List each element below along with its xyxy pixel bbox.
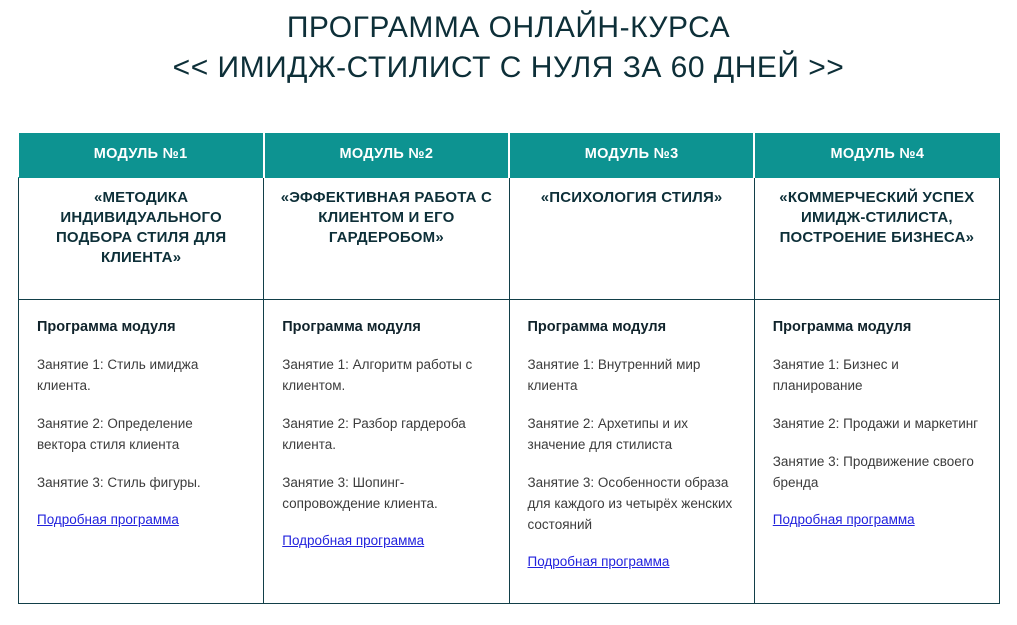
lesson-item: Занятие 2: Продажи и маркетинг bbox=[773, 413, 981, 434]
lesson-item: Занятие 2: Архетипы и их значение для ст… bbox=[528, 413, 736, 455]
page-title-line-2: << ИМИДЖ-СТИЛИСТ С НУЛЯ ЗА 60 ДНЕЙ >> bbox=[0, 48, 1017, 88]
module-title-cell-2: «ЭФФЕКТИВНАЯ РАБОТА С КЛИЕНТОМ И ЕГО ГАР… bbox=[264, 177, 509, 299]
lesson-item: Занятие 1: Стиль имиджа клиента. bbox=[37, 354, 245, 396]
module-title-row: «МЕТОДИКА ИНДИВИДУАЛЬНОГО ПОДБОРА СТИЛЯ … bbox=[19, 177, 1000, 299]
program-heading-4: Программа модуля bbox=[773, 318, 981, 336]
program-heading-1: Программа модуля bbox=[37, 318, 245, 336]
module-title-text-4: «КОММЕРЧЕСКИЙ УСПЕХ ИМИДЖ-СТИЛИСТА, ПОСТ… bbox=[769, 188, 985, 248]
detailed-program-link-4[interactable]: Подробная программа bbox=[773, 510, 915, 530]
detailed-program-link-2[interactable]: Подробная программа bbox=[282, 531, 424, 551]
lesson-item: Занятие 1: Алгоритм работы с клиентом. bbox=[282, 354, 490, 396]
module-header-2: МОДУЛЬ №2 bbox=[264, 133, 509, 177]
lesson-item: Занятие 1: Бизнес и планирование bbox=[773, 354, 981, 396]
module-title-cell-1: «МЕТОДИКА ИНДИВИДУАЛЬНОГО ПОДБОРА СТИЛЯ … bbox=[19, 177, 264, 299]
lesson-item: Занятие 3: Продвижение своего бренда bbox=[773, 451, 981, 493]
page-title: ПРОГРАММА ОНЛАЙН-КУРСА << ИМИДЖ-СТИЛИСТ … bbox=[0, 0, 1017, 88]
module-body-cell-2: Программа модуля Занятие 1: Алгоритм раб… bbox=[264, 299, 509, 603]
module-body-row: Программа модуля Занятие 1: Стиль имиджа… bbox=[19, 299, 1000, 603]
module-title-text-3: «ПСИХОЛОГИЯ СТИЛЯ» bbox=[524, 188, 740, 208]
program-heading-2: Программа модуля bbox=[282, 318, 490, 336]
detailed-program-link-3[interactable]: Подробная программа bbox=[528, 552, 670, 572]
module-header-row: МОДУЛЬ №1 МОДУЛЬ №2 МОДУЛЬ №3 МОДУЛЬ №4 bbox=[19, 133, 1000, 177]
course-program-page: ПРОГРАММА ОНЛАЙН-КУРСА << ИМИДЖ-СТИЛИСТ … bbox=[0, 0, 1017, 625]
module-body-cell-3: Программа модуля Занятие 1: Внутренний м… bbox=[509, 299, 754, 603]
module-title-text-2: «ЭФФЕКТИВНАЯ РАБОТА С КЛИЕНТОМ И ЕГО ГАР… bbox=[278, 188, 494, 248]
lesson-item: Занятие 3: Стиль фигуры. bbox=[37, 472, 245, 493]
page-title-line-1: ПРОГРАММА ОНЛАЙН-КУРСА bbox=[0, 8, 1017, 48]
program-heading-3: Программа модуля bbox=[528, 318, 736, 336]
lesson-item: Занятие 3: Особенности образа для каждог… bbox=[528, 472, 736, 535]
lesson-item: Занятие 2: Определение вектора стиля кли… bbox=[37, 413, 245, 455]
detailed-program-link-1[interactable]: Подробная программа bbox=[37, 510, 179, 530]
module-body-cell-4: Программа модуля Занятие 1: Бизнес и пла… bbox=[754, 299, 999, 603]
module-title-cell-4: «КОММЕРЧЕСКИЙ УСПЕХ ИМИДЖ-СТИЛИСТА, ПОСТ… bbox=[754, 177, 999, 299]
module-header-1: МОДУЛЬ №1 bbox=[19, 133, 264, 177]
program-table: МОДУЛЬ №1 МОДУЛЬ №2 МОДУЛЬ №3 МОДУЛЬ №4 … bbox=[18, 133, 1000, 604]
lesson-item: Занятие 1: Внутренний мир клиента bbox=[528, 354, 736, 396]
lesson-item: Занятие 2: Разбор гардероба клиента. bbox=[282, 413, 490, 455]
module-body-cell-1: Программа модуля Занятие 1: Стиль имиджа… bbox=[19, 299, 264, 603]
module-title-cell-3: «ПСИХОЛОГИЯ СТИЛЯ» bbox=[509, 177, 754, 299]
module-title-text-1: «МЕТОДИКА ИНДИВИДУАЛЬНОГО ПОДБОРА СТИЛЯ … bbox=[33, 188, 249, 268]
module-header-3: МОДУЛЬ №3 bbox=[509, 133, 754, 177]
module-header-4: МОДУЛЬ №4 bbox=[754, 133, 999, 177]
lesson-item: Занятие 3: Шопинг-сопровождение клиента. bbox=[282, 472, 490, 514]
